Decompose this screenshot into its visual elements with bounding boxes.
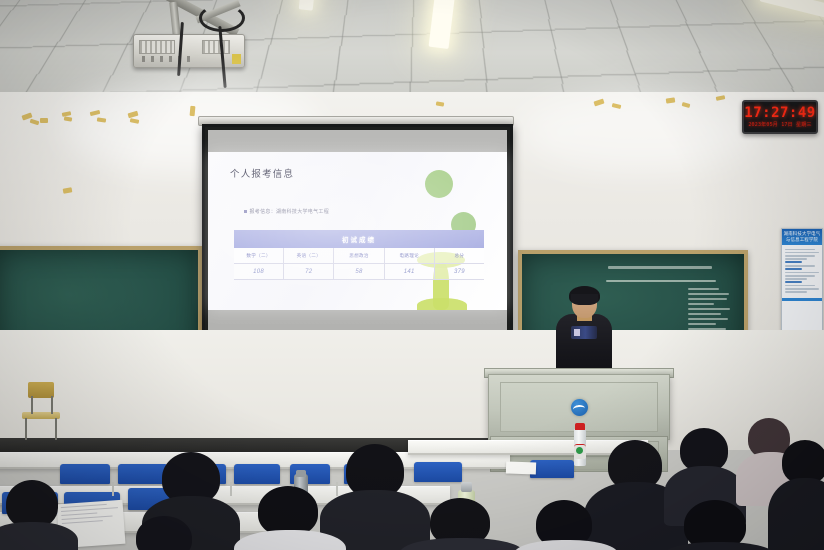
digital-wall-clock: 17:27:49 2023年05月 17日 星期三	[742, 100, 818, 134]
chair-leg	[51, 396, 53, 414]
projector-vent	[202, 40, 230, 54]
audience-member	[240, 486, 336, 550]
projection-screen: 个人报考信息 报考信息：湖南科技大学电气工程 初试成绩	[202, 124, 513, 342]
poster-line	[785, 255, 815, 257]
audience-member	[0, 480, 78, 550]
audience-member	[672, 500, 764, 550]
ceiling	[0, 0, 824, 96]
bullet-dot	[244, 210, 247, 213]
tape-mark	[63, 187, 73, 193]
handout-paper	[506, 461, 536, 474]
presenter-badge	[571, 326, 597, 339]
table-caption: 初试成绩	[234, 230, 484, 248]
chair-leg	[25, 418, 27, 440]
table-cell: 108	[234, 264, 284, 280]
score-table: 初试成绩 数学（二） 英语（二） 思想政治 电路理论 总分 108 72 58 …	[234, 230, 484, 280]
poster-line	[785, 272, 819, 274]
poster-line	[785, 285, 815, 287]
wall-highlight	[520, 92, 760, 172]
wall-poster: 湖南科技大学电气与信息工程学院	[781, 228, 823, 346]
thermos-cap	[461, 482, 472, 492]
slide-bullet-text: 报考信息：湖南科技大学电气工程	[250, 208, 330, 215]
audience-member	[120, 516, 212, 550]
chair-leg	[31, 396, 33, 414]
tape-mark	[40, 118, 48, 123]
table-row: 108 72 58 141 379	[234, 264, 484, 280]
table-header-cell: 电路理论	[385, 248, 435, 264]
slide-title: 个人报考信息	[230, 166, 294, 180]
table-header-row: 数学（二） 英语（二） 思想政治 电路理论 总分	[234, 248, 484, 264]
tape-mark	[716, 95, 726, 101]
slide-bullet: 报考信息：湖南科技大学电气工程	[244, 208, 329, 215]
audience-member	[330, 444, 420, 550]
screen-surface: 个人报考信息 报考信息：湖南科技大学电气工程 初试成绩	[208, 130, 507, 336]
chair-post	[112, 482, 114, 496]
projected-slide: 个人报考信息 报考信息：湖南科技大学电气工程 初试成绩	[208, 152, 507, 310]
tape-mark	[190, 106, 196, 116]
tape-mark	[436, 101, 445, 106]
auditorium-chair[interactable]	[530, 460, 574, 478]
projector-ports	[142, 56, 194, 62]
poster-line	[785, 278, 807, 280]
table-cell: 58	[334, 264, 384, 280]
thermos-cap	[296, 470, 306, 477]
tree-leaf-circle	[425, 170, 453, 198]
poster-line	[785, 258, 807, 260]
ceiling-projector	[133, 28, 243, 68]
bottle-logo	[576, 447, 583, 454]
table-header-cell: 数学（二）	[234, 248, 284, 264]
projector-vent	[139, 40, 175, 54]
table-cell: 72	[284, 264, 334, 280]
ceiling-tiles	[0, 0, 824, 96]
table-header-cell: 英语（二）	[284, 248, 334, 264]
chair-leg	[55, 418, 57, 440]
poster-body	[782, 245, 822, 296]
projector-cable-loop	[199, 4, 245, 32]
projector-body	[133, 34, 245, 68]
poster-line	[785, 291, 807, 293]
university-emblem-icon	[571, 399, 588, 416]
auditorium-chair[interactable]	[414, 462, 462, 482]
poster-footer	[782, 298, 822, 301]
poster-line	[785, 275, 815, 277]
chalk-underline	[606, 280, 716, 282]
bottle-cap	[575, 423, 585, 430]
poster-line	[785, 261, 802, 263]
poster-heading: 湖南科技大学电气与信息工程学院	[782, 229, 822, 245]
tree-base	[417, 298, 467, 310]
tape-mark	[30, 119, 40, 126]
presenter	[556, 288, 612, 380]
poster-line	[785, 252, 819, 254]
blackboard-handwriting	[608, 266, 712, 272]
classroom-photo: 17:27:49 2023年05月 17日 星期三 湖南科技大学电气与信息工程学…	[0, 0, 824, 550]
audience-member	[520, 500, 610, 550]
clock-time: 17:27:49	[744, 106, 815, 120]
wooden-chair	[22, 382, 60, 440]
audience-member	[778, 440, 824, 550]
presenter-hair	[569, 286, 600, 305]
table-header-cell: 总分	[435, 248, 484, 264]
auditorium-chair[interactable]	[234, 464, 280, 484]
poster-line	[785, 288, 819, 290]
table-cell: 379	[435, 264, 484, 280]
audience-member	[408, 498, 514, 550]
poster-line	[785, 268, 802, 270]
poster-line	[785, 265, 815, 267]
poster-line	[785, 281, 802, 283]
projector-label	[232, 54, 241, 64]
clock-date: 2023年05月 17日 星期三	[748, 123, 811, 128]
table-cell: 141	[385, 264, 435, 280]
table-header-cell: 思想政治	[334, 248, 384, 264]
poster-line	[785, 249, 815, 251]
